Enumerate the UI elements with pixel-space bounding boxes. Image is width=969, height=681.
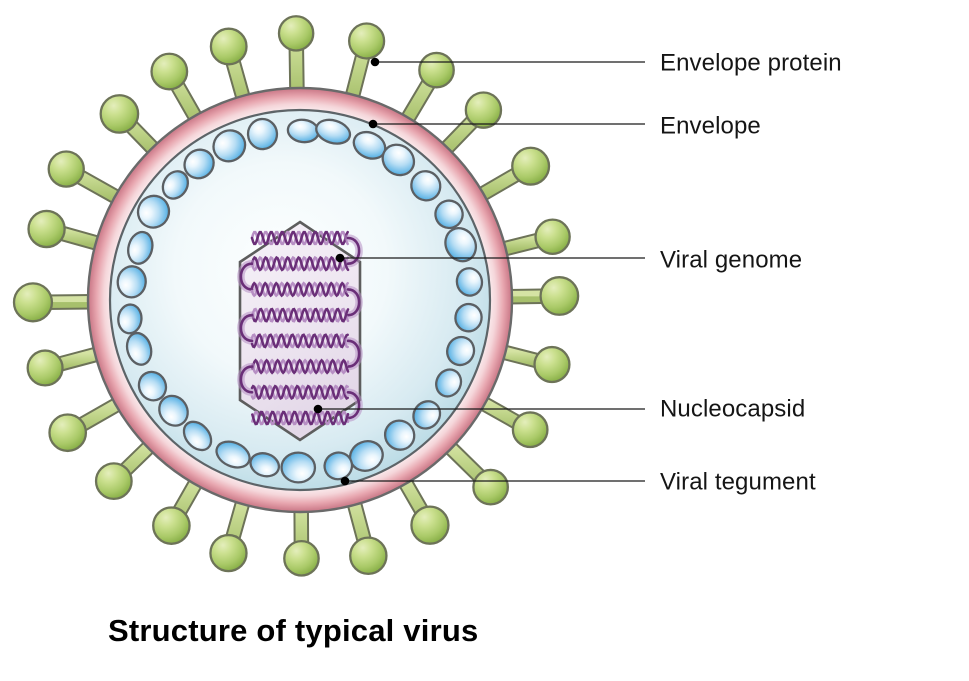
label-envelope-protein: Envelope protein [660, 49, 842, 76]
leader-dot-envelope [369, 120, 378, 129]
spike-head [152, 54, 188, 90]
envelope-protein-spike [28, 351, 101, 386]
envelope-protein-spike [478, 148, 549, 197]
envelope-protein-spike [101, 95, 157, 152]
spike-head [473, 470, 507, 504]
envelope-protein-spike [49, 152, 121, 200]
spike-head [153, 507, 189, 543]
envelope-protein-spike [49, 402, 121, 451]
virus-structure-diagram: Envelope protein Envelope Viral genome N… [0, 0, 969, 681]
envelope-protein-spike [500, 220, 570, 254]
envelope-protein-spike [443, 92, 501, 151]
spike-head [541, 277, 579, 315]
spike-head [49, 152, 84, 187]
envelope-protein-spike [210, 498, 246, 571]
spike-head [512, 148, 549, 185]
tegument-blob [281, 452, 315, 482]
envelope-protein-spike [153, 479, 198, 544]
envelope-protein-spike [29, 211, 102, 247]
spike-head [284, 541, 318, 575]
diagram-canvas: Envelope protein Envelope Viral genome N… [0, 0, 969, 681]
leader-dot-nucleocapsid [314, 405, 323, 414]
figure-caption: Structure of typical virus [108, 613, 478, 648]
spike-head [49, 415, 85, 451]
leader-dot-viral-tegument [341, 477, 350, 486]
envelope-protein-spike [500, 347, 570, 382]
spike-head [14, 283, 52, 321]
tegument-blob [247, 118, 278, 150]
spike-head [96, 463, 132, 499]
leader-dot-viral-genome [336, 254, 345, 263]
envelope-protein-spike [506, 277, 578, 315]
spike-head [28, 351, 63, 386]
spike-head [279, 16, 313, 50]
label-viral-genome: Viral genome [660, 246, 802, 273]
label-nucleocapsid: Nucleocapsid [660, 395, 805, 422]
envelope-protein-spike [96, 444, 152, 499]
spike-head [349, 24, 384, 59]
spike-head [350, 538, 386, 574]
spike-head [101, 95, 138, 132]
envelope-protein-spike [152, 54, 198, 121]
envelope-protein-spike [14, 283, 94, 321]
leader-dot-envelope-protein [371, 58, 380, 67]
spike-head [419, 53, 453, 87]
spike-head [211, 29, 247, 65]
spike-head [29, 211, 65, 247]
envelope-protein-spike [479, 401, 547, 447]
envelope-protein-spike [405, 53, 454, 123]
spike-head [466, 92, 501, 127]
envelope-protein-spike [284, 506, 318, 576]
spike-head [411, 507, 448, 544]
spike-head [535, 347, 570, 382]
label-viral-tegument: Viral tegument [660, 468, 816, 495]
envelope-protein-spike [447, 444, 508, 504]
spike-head [536, 220, 570, 254]
envelope-protein-spike [211, 29, 247, 102]
label-envelope: Envelope [660, 112, 761, 139]
spike-head [513, 412, 548, 447]
envelope-protein-spike [350, 499, 386, 574]
spike-head [210, 535, 246, 571]
envelope-protein-spike [279, 16, 313, 94]
envelope-protein-spike [403, 478, 448, 543]
